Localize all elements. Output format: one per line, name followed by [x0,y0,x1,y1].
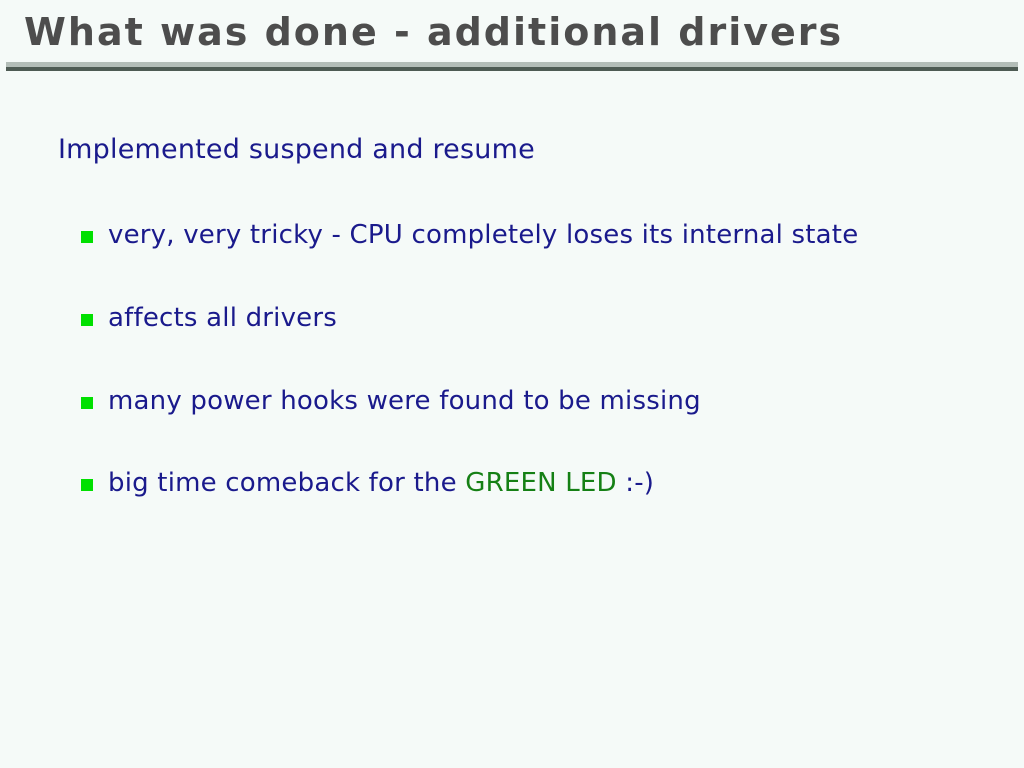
list-item: affects all drivers [80,301,980,336]
list-item-label: many power hooks were found to be missin… [108,384,980,419]
square-bullet-icon [81,231,93,243]
bullet-list: very, very tricky - CPU completely loses… [80,218,980,501]
list-item-text-trailing: :-) [617,468,654,498]
square-bullet-icon [81,397,93,409]
list-item-text: very, very tricky - CPU completely loses… [108,220,858,250]
title-divider [6,62,1018,71]
list-item-label: very, very tricky - CPU completely loses… [108,218,938,253]
list-item: big time comeback for the GREEN LED :-) [80,466,980,501]
square-bullet-icon [81,314,93,326]
slide-canvas: What was done - additional drivers Imple… [0,0,1024,768]
list-item-text: many power hooks were found to be missin… [108,386,701,416]
list-item-label: affects all drivers [108,301,980,336]
list-item-highlight: GREEN LED [465,468,617,498]
list-item-label: big time comeback for the GREEN LED :-) [108,466,980,501]
page-title: What was done - additional drivers [24,12,843,54]
list-item: very, very tricky - CPU completely loses… [80,218,938,253]
list-item-text: affects all drivers [108,303,337,333]
list-item-text: big time comeback for the [108,468,465,498]
lead-statement: Implemented suspend and resume [58,134,535,165]
square-bullet-icon [81,479,93,491]
list-item: many power hooks were found to be missin… [80,384,980,419]
divider-shadow-line [6,67,1018,71]
